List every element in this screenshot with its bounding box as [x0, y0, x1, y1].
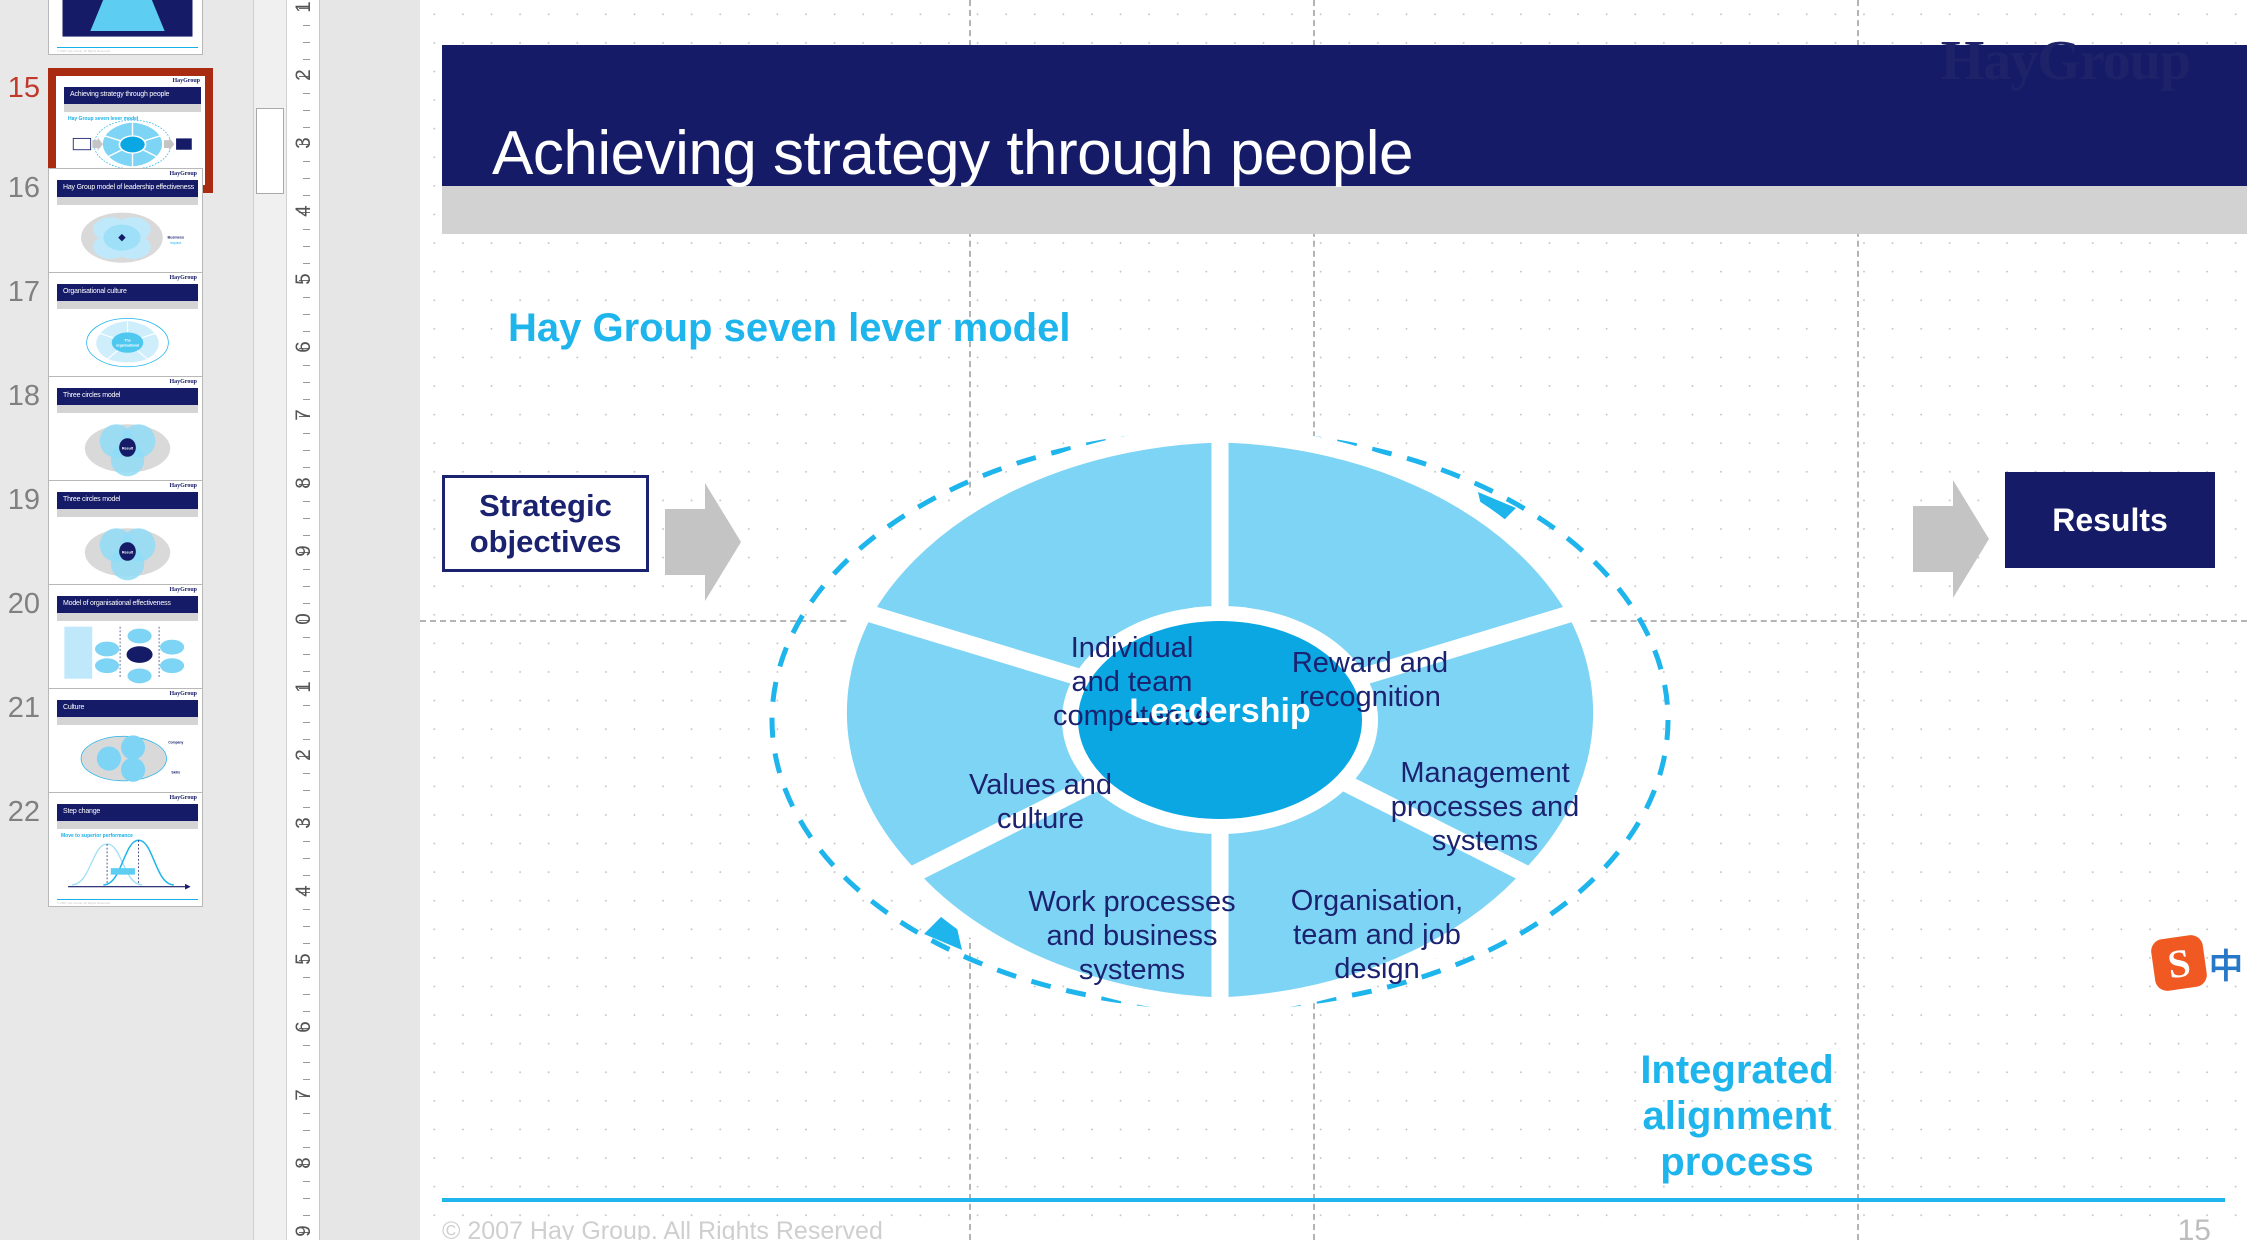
slide-thumbnail-preview[interactable]: HayGroupThree circles modelResult© 2007 … [48, 376, 203, 491]
ruler-tick-minor [303, 1113, 310, 1114]
thumb-art-bell-curves [57, 831, 198, 896]
ruler-tick-minor [303, 178, 310, 179]
thumb-title: Three circles model [57, 388, 198, 399]
thumb-hay-logo: HayGroup [169, 275, 197, 281]
ruler-tick-minor [303, 535, 310, 536]
ruler-tick-minor [303, 943, 310, 944]
thumb-hay-logo: HayGroup [169, 587, 197, 593]
ruler-tick-minor [303, 127, 310, 128]
thumb-title: Model of organisational effectiveness [57, 596, 198, 607]
ruler-tick-minor [303, 1181, 310, 1182]
ruler-label: 4 [292, 875, 316, 907]
ruler-tick-minor [303, 25, 310, 26]
ruler-tick-minor [303, 994, 310, 995]
slide-thumbnail-item[interactable]: 22HayGroupStep changeMove to superior pe… [0, 792, 253, 907]
ruler-label: 8 [292, 1147, 316, 1179]
sogou-input-indicator[interactable]: S 中 [2147, 928, 2247, 998]
ruler-label: 9 [292, 1215, 316, 1240]
slide-number-label: 20 [0, 584, 48, 619]
ruler-tick-minor [303, 722, 310, 723]
thumb-title-band: Organisational culture [57, 284, 198, 301]
ruler-label: 1 [292, 671, 316, 703]
thumb-title: Achieving strategy through people [64, 87, 201, 98]
thumb-artwork: Integrated [64, 114, 201, 175]
strategic-objectives-line1: Strategic [479, 488, 612, 523]
slide-subtitle[interactable]: Hay Group seven lever model [508, 306, 1070, 351]
slide-thumbnail-item[interactable]: 17HayGroupOrganisational cultureTheorgan… [0, 272, 253, 387]
ruler-tick-minor [303, 705, 310, 706]
thumb-footer-rule [57, 899, 198, 901]
ruler-tick-minor [303, 501, 310, 502]
powerpoint-editor-window: 14HayGroup© 2007 Hay Group. All Rights R… [0, 0, 2247, 1240]
ruler-tick-minor [303, 603, 310, 604]
ruler-label: 6 [292, 331, 316, 363]
ruler-tick-minor [303, 246, 310, 247]
svg-text:organisational: organisational [116, 343, 139, 347]
ruler-tick-minor [303, 790, 310, 791]
thumb-hay-logo: HayGroup [169, 379, 197, 385]
ruler-tick-minor [303, 637, 310, 638]
thumb-title: Step change [57, 804, 198, 815]
slide-number-label: 17 [0, 272, 48, 307]
thumb-grey-band [57, 821, 198, 829]
thumb-artwork: Theorganisational [57, 311, 198, 376]
vertical-ruler: 0987654321123456789 [288, 0, 320, 1240]
slide-thumbnail-item[interactable]: 19HayGroupThree circles modelResult© 200… [0, 480, 253, 595]
ruler-tick-minor [303, 93, 310, 94]
footer-rule [442, 1198, 2225, 1202]
thumb-artwork [57, 831, 198, 896]
thumb-hay-logo: HayGroup [169, 691, 197, 697]
ruler-tick-minor [303, 671, 310, 672]
ruler-tick-minor [303, 59, 310, 60]
ruler-tick-minor [303, 1215, 310, 1216]
ruler-tick-minor [303, 739, 310, 740]
ruler-tick-minor [303, 841, 310, 842]
ruler-tick-minor [303, 875, 310, 876]
ruler-tick-minor [303, 1198, 310, 1199]
ruler-tick-minor [303, 569, 310, 570]
thumb-grey-band [57, 405, 198, 413]
thumb-art-org-effectiveness [57, 623, 198, 688]
ruler-tick-minor [303, 1147, 310, 1148]
thumb-artwork: Businessimpact [57, 207, 198, 272]
thumb-art-four-petal: Businessimpact [57, 207, 198, 272]
results-box[interactable]: Results [2005, 472, 2215, 568]
ruler-tick-minor [303, 161, 310, 162]
thumb-title: Culture [57, 700, 198, 711]
thumb-artwork: Result [57, 415, 198, 480]
thumb-grey-band [57, 197, 198, 205]
thumb-footer-rule [57, 47, 198, 49]
ruler-label: 2 [292, 59, 316, 91]
thumb-title-band: Model of organisational effectiveness [57, 596, 198, 613]
svg-text:Skills: Skills [171, 770, 180, 774]
label-leadership: Leadership [740, 692, 1700, 731]
thumb-artwork [57, 623, 198, 688]
slide-thumbnail-panel[interactable]: 14HayGroup© 2007 Hay Group. All Rights R… [0, 0, 253, 1240]
ruler-label: 5 [292, 263, 316, 295]
ruler-tick-minor [303, 909, 310, 910]
ruler-tick-minor [303, 195, 310, 196]
slide-thumbnail-preview[interactable]: HayGroupHay Group model of leadership ef… [48, 168, 203, 283]
ruler-tick-minor [303, 1045, 310, 1046]
thumb-art-three-circles: Result [57, 519, 198, 584]
ruler-tick-minor [303, 382, 310, 383]
ruler-label: 2 [292, 739, 316, 771]
slide-number-label: 16 [0, 168, 48, 203]
ruler-tick-minor [303, 365, 310, 366]
svg-text:impact: impact [170, 241, 181, 245]
ruler-tick-minor [303, 110, 310, 111]
slide-thumbnail-item[interactable]: 14HayGroup© 2007 Hay Group. All Rights R… [0, 0, 253, 55]
slide-thumbnail-item[interactable]: 16HayGroupHay Group model of leadership … [0, 168, 253, 283]
ruler-label: 6 [292, 1011, 316, 1043]
ruler-label: 3 [292, 807, 316, 839]
ruler-label: 0 [292, 603, 316, 635]
slide-panel-scrollbar-thumb[interactable] [256, 108, 284, 194]
ruler-label: 4 [292, 195, 316, 227]
ruler-tick-minor [303, 314, 310, 315]
ruler-tick-minor [303, 1011, 310, 1012]
slide-number-label: 22 [0, 792, 48, 827]
thumb-art-culture-loops: CompanySkills [57, 727, 198, 792]
slide-number-label: 15 [0, 68, 48, 103]
svg-text:Result: Result [122, 550, 134, 554]
thumb-title: Three circles model [57, 492, 198, 503]
arrow-right-input-icon [665, 483, 741, 601]
sogou-logo-icon: S [2150, 934, 2209, 993]
thumb-grey-band [57, 717, 198, 725]
seven-lever-diagram[interactable]: Individual and team competence Reward an… [740, 420, 1700, 1020]
ruler-tick-minor [303, 586, 310, 587]
ruler-tick-minor [303, 297, 310, 298]
ruler-tick-minor [303, 977, 310, 978]
slide-title[interactable]: Achieving strategy through people [492, 118, 1413, 189]
thumb-copyright: © 2007 Hay Group. All Rights Reserved [57, 901, 110, 905]
ruler-tick-minor [303, 263, 310, 264]
slide-thumbnail-item[interactable]: 20HayGroupModel of organisational effect… [0, 584, 253, 699]
thumb-hay-logo: HayGroup [169, 171, 197, 177]
svg-text:The: The [124, 339, 131, 343]
ruler-label: 7 [292, 399, 316, 431]
ruler-label: 9 [292, 535, 316, 567]
ruler-tick-minor [303, 926, 310, 927]
thumb-art-iceberg [57, 0, 198, 44]
slide-thumbnail-preview[interactable]: HayGroupThree circles modelResult© 2007 … [48, 480, 203, 595]
hay-group-logo: HayGroup [1941, 29, 2190, 93]
thumb-art-three-circles: Result [57, 415, 198, 480]
ruler-label: 8 [292, 467, 316, 499]
strategic-objectives-box[interactable]: Strategic objectives [442, 475, 649, 572]
thumb-title-band: Three circles model [57, 492, 198, 509]
slide-canvas[interactable]: Achieving strategy through people HayGro… [420, 0, 2247, 1240]
svg-text:Company: Company [168, 741, 183, 745]
ruler-tick-minor [303, 773, 310, 774]
strategic-objectives-line2: objectives [470, 524, 622, 559]
slide-thumbnail-item[interactable]: 21HayGroupCultureCompanySkills© 2007 Hay… [0, 688, 253, 803]
thumb-hay-logo: HayGroup [172, 78, 200, 84]
slide-thumbnail-preview[interactable]: HayGroupModel of organisational effectiv… [48, 584, 203, 699]
ruler-tick-minor [303, 807, 310, 808]
arrow-right-output-icon [1913, 480, 1989, 598]
ruler-tick-minor [303, 1130, 310, 1131]
slide-thumbnail-preview[interactable]: HayGroup© 2007 Hay Group. All Rights Res… [48, 0, 203, 55]
ruler-tick-minor [303, 229, 310, 230]
ruler-tick-minor [303, 1062, 310, 1063]
thumb-hay-logo: HayGroup [169, 795, 197, 801]
thumb-artwork: Result [57, 519, 198, 584]
slide-number-label: 21 [0, 688, 48, 723]
slide-number-label: 19 [0, 480, 48, 515]
ruler-label: 3 [292, 127, 316, 159]
integrated-alignment-process-label: Integrated alignment process [1572, 1047, 1902, 1185]
ruler-tick-minor [303, 42, 310, 43]
thumb-grey-band [64, 104, 201, 112]
thumb-art-culture-wheel: Theorganisational [57, 311, 198, 376]
results-label: Results [2052, 502, 2168, 539]
ruler-tick-minor [303, 331, 310, 332]
canvas-gutter [320, 0, 420, 1240]
thumb-title: Hay Group model of leadership effectiven… [57, 180, 198, 191]
copyright-text: © 2007 Hay Group. All Rights Reserved [442, 1217, 883, 1240]
title-underbar [442, 186, 2247, 234]
ruler-tick-minor [303, 450, 310, 451]
thumb-art-seven-lever: Integrated [64, 114, 201, 175]
ruler-tick-minor [303, 1079, 310, 1080]
slide-page-number: 15 [2178, 1214, 2211, 1240]
thumb-grey-band [57, 509, 198, 517]
thumb-title-band: Achieving strategy through people [64, 87, 201, 104]
ruler-label: 1 [292, 0, 316, 23]
thumb-title-band: Three circles model [57, 388, 198, 405]
ime-mode-label: 中 [2209, 939, 2243, 988]
ruler-label: 7 [292, 1079, 316, 1111]
ruler-tick-minor [303, 399, 310, 400]
thumb-grey-band [57, 613, 198, 621]
ruler-tick-minor [303, 654, 310, 655]
thumb-title-band: Step change [57, 804, 198, 821]
ruler-tick-minor [303, 433, 310, 434]
thumb-title-band: Hay Group model of leadership effectiven… [57, 180, 198, 197]
slide-thumbnail-preview[interactable]: HayGroupOrganisational cultureTheorganis… [48, 272, 203, 387]
slide-thumbnail-preview[interactable]: HayGroupStep changeMove to superior perf… [48, 792, 203, 907]
thumb-copyright: © 2007 Hay Group. All Rights Reserved [57, 49, 110, 53]
svg-text:Result: Result [122, 446, 134, 450]
thumb-title: Organisational culture [57, 284, 198, 295]
ruler-tick-minor [303, 467, 310, 468]
thumb-grey-band [57, 301, 198, 309]
ruler-tick-minor [303, 858, 310, 859]
slide-thumbnail-preview[interactable]: HayGroupCultureCompanySkills© 2007 Hay G… [48, 688, 203, 803]
thumb-title-band: Culture [57, 700, 198, 717]
ruler-tick-minor [303, 518, 310, 519]
ruler-label: 5 [292, 943, 316, 975]
slide-thumbnail-item[interactable]: 18HayGroupThree circles modelResult© 200… [0, 376, 253, 491]
thumb-hay-logo: HayGroup [169, 483, 197, 489]
slide-number-label: 18 [0, 376, 48, 411]
thumb-artwork: CompanySkills [57, 727, 198, 792]
svg-text:Business: Business [168, 236, 184, 240]
thumb-artwork [57, 0, 198, 44]
